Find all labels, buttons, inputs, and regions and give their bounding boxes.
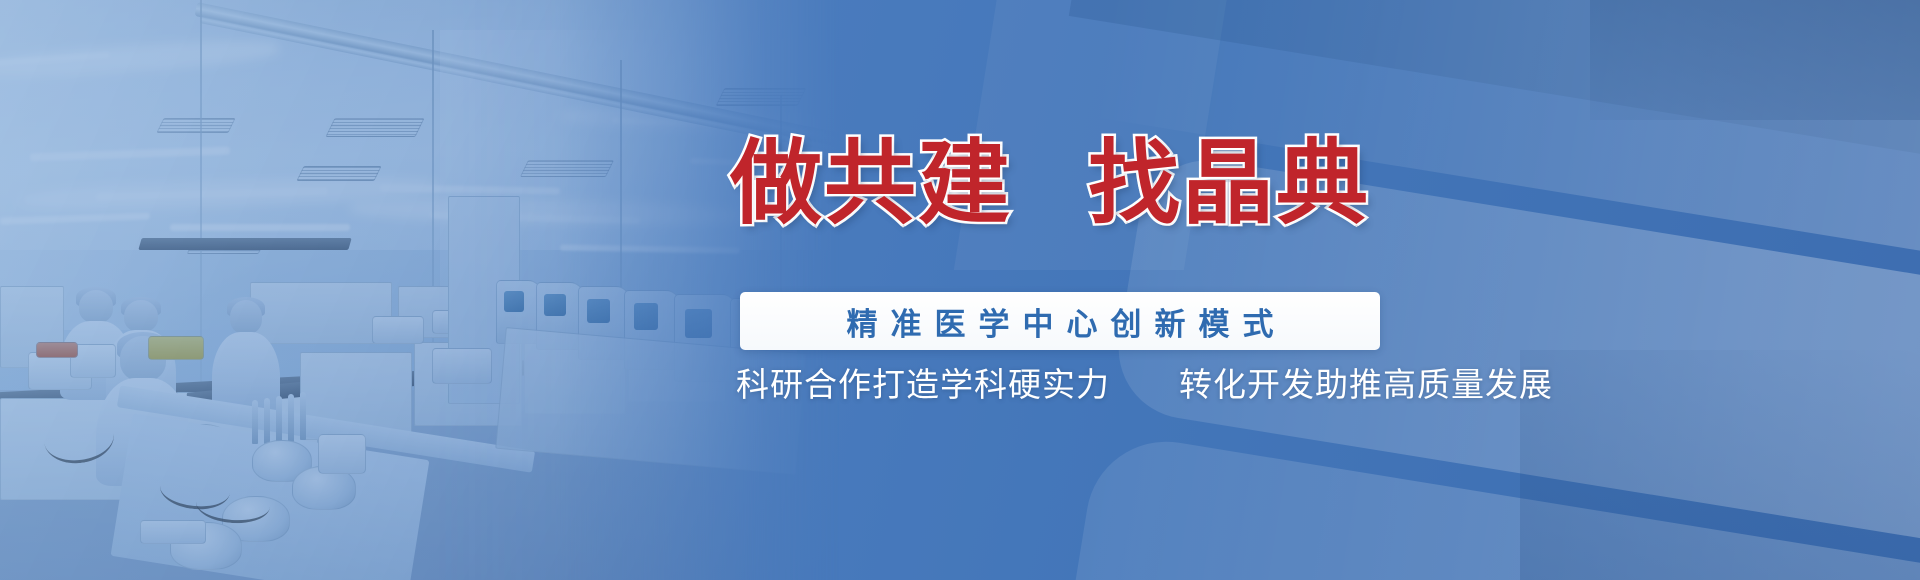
tagline-right: 转化开发助推高质量发展: [1179, 365, 1553, 404]
banner-tagline: 科研合作打造学科硬实力 转化开发助推高质量发展: [736, 358, 1836, 406]
subtitle-text: 精准医学中心创新模式: [834, 299, 1287, 344]
promo-banner: 做共建 找晶典 精准医学中心创新模式 科研合作打造学科硬实力 转化开发助推高质量…: [0, 0, 1920, 580]
tagline-left: 科研合作打造学科硬实力: [736, 365, 1110, 404]
headline-left-phrase: 做共建: [730, 138, 1012, 230]
subtitle-bar: 精准医学中心创新模式: [740, 292, 1380, 350]
banner-headline: 做共建 找晶典: [730, 138, 1920, 230]
headline-right-phrase: 找晶典: [1088, 138, 1370, 230]
banner-copy: 做共建 找晶典 精准医学中心创新模式 科研合作打造学科硬实力 转化开发助推高质量…: [714, 0, 1920, 580]
